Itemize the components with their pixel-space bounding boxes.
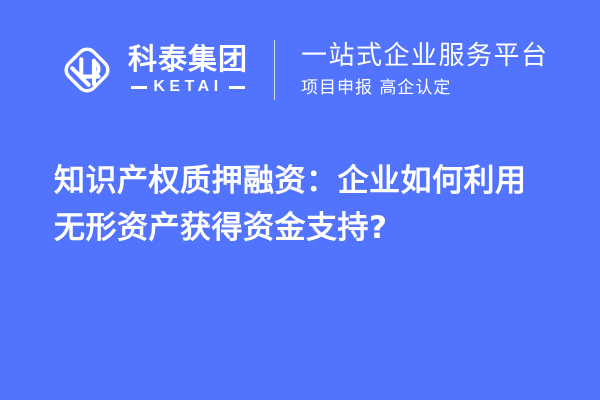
tagline-main: 一站式企业服务平台 (301, 41, 549, 71)
header-tagline-block: 一站式企业服务平台 项目申报 高企认定 (301, 41, 549, 99)
banner-header: 科泰集团 KETAI 一站式企业服务平台 项目申报 高企认定 (0, 0, 600, 140)
wordmark-dash-left (131, 86, 147, 89)
tagline-sub: 项目申报 高企认定 (301, 78, 549, 98)
page-title-line-2: 无形资产获得资金支持? (54, 205, 564, 252)
header-divider (274, 40, 275, 100)
wordmark-dash-right (229, 86, 245, 89)
company-name-cn: 科泰集团 (128, 45, 248, 74)
page-title: 知识产权质押融资：企业如何利用 无形资产获得资金支持? (54, 158, 564, 252)
page-title-line-1: 知识产权质押融资：企业如何利用 (54, 158, 564, 205)
article-cover-banner: 科泰集团 KETAI 一站式企业服务平台 项目申报 高企认定 知识产权质押融资：… (0, 0, 600, 400)
brand-wordmark: 科泰集团 KETAI (128, 45, 248, 95)
company-name-en-row: KETAI (128, 79, 248, 95)
brand-logo-block[interactable]: 科泰集团 KETAI (58, 41, 248, 99)
ketai-kp-monogram-logo-icon (58, 41, 116, 99)
company-name-en: KETAI (153, 79, 222, 95)
